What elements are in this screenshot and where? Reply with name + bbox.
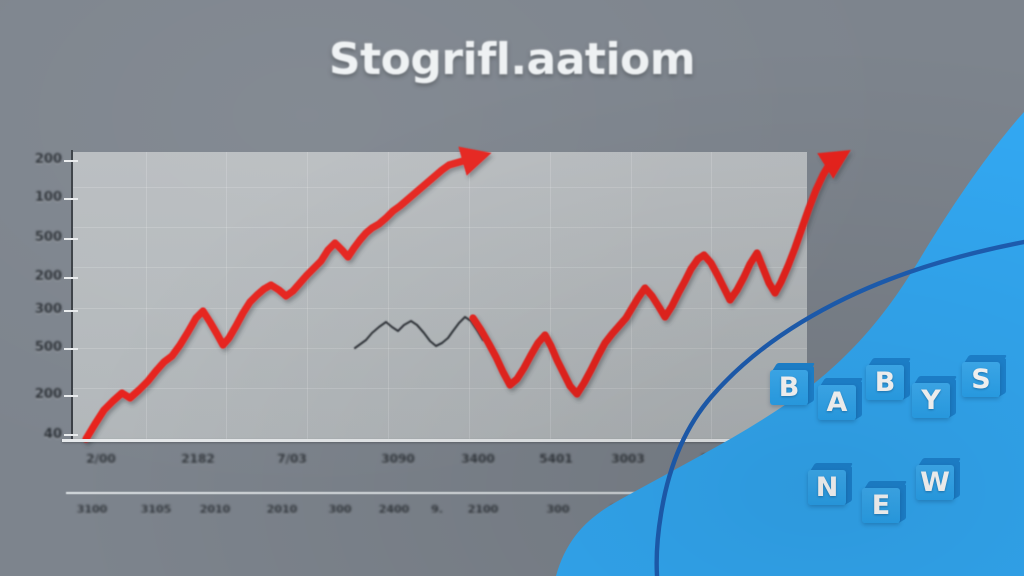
screenshot-canvas: Stogrifl.aatiom 200 100 500 200 300 500 …: [0, 0, 1024, 576]
block-letter: A: [818, 385, 856, 420]
letter-block-a: A: [818, 378, 858, 418]
block-letter: E: [862, 488, 900, 523]
letter-block-e: E: [862, 481, 902, 521]
block-letter: Y: [912, 383, 950, 418]
letter-block-b-1: B: [770, 363, 810, 403]
letter-block-s: S: [962, 355, 1002, 395]
block-letter: S: [962, 362, 1000, 397]
blue-blob-shape: [556, 112, 1024, 576]
block-letter: B: [866, 365, 904, 400]
block-letter: N: [808, 470, 846, 505]
letter-block-y: Y: [912, 376, 952, 416]
block-letter: B: [770, 370, 808, 405]
letter-block-w: W: [916, 458, 956, 498]
block-letter: W: [916, 465, 954, 500]
letter-block-b-2: B: [866, 358, 906, 398]
letter-block-n: N: [808, 463, 848, 503]
